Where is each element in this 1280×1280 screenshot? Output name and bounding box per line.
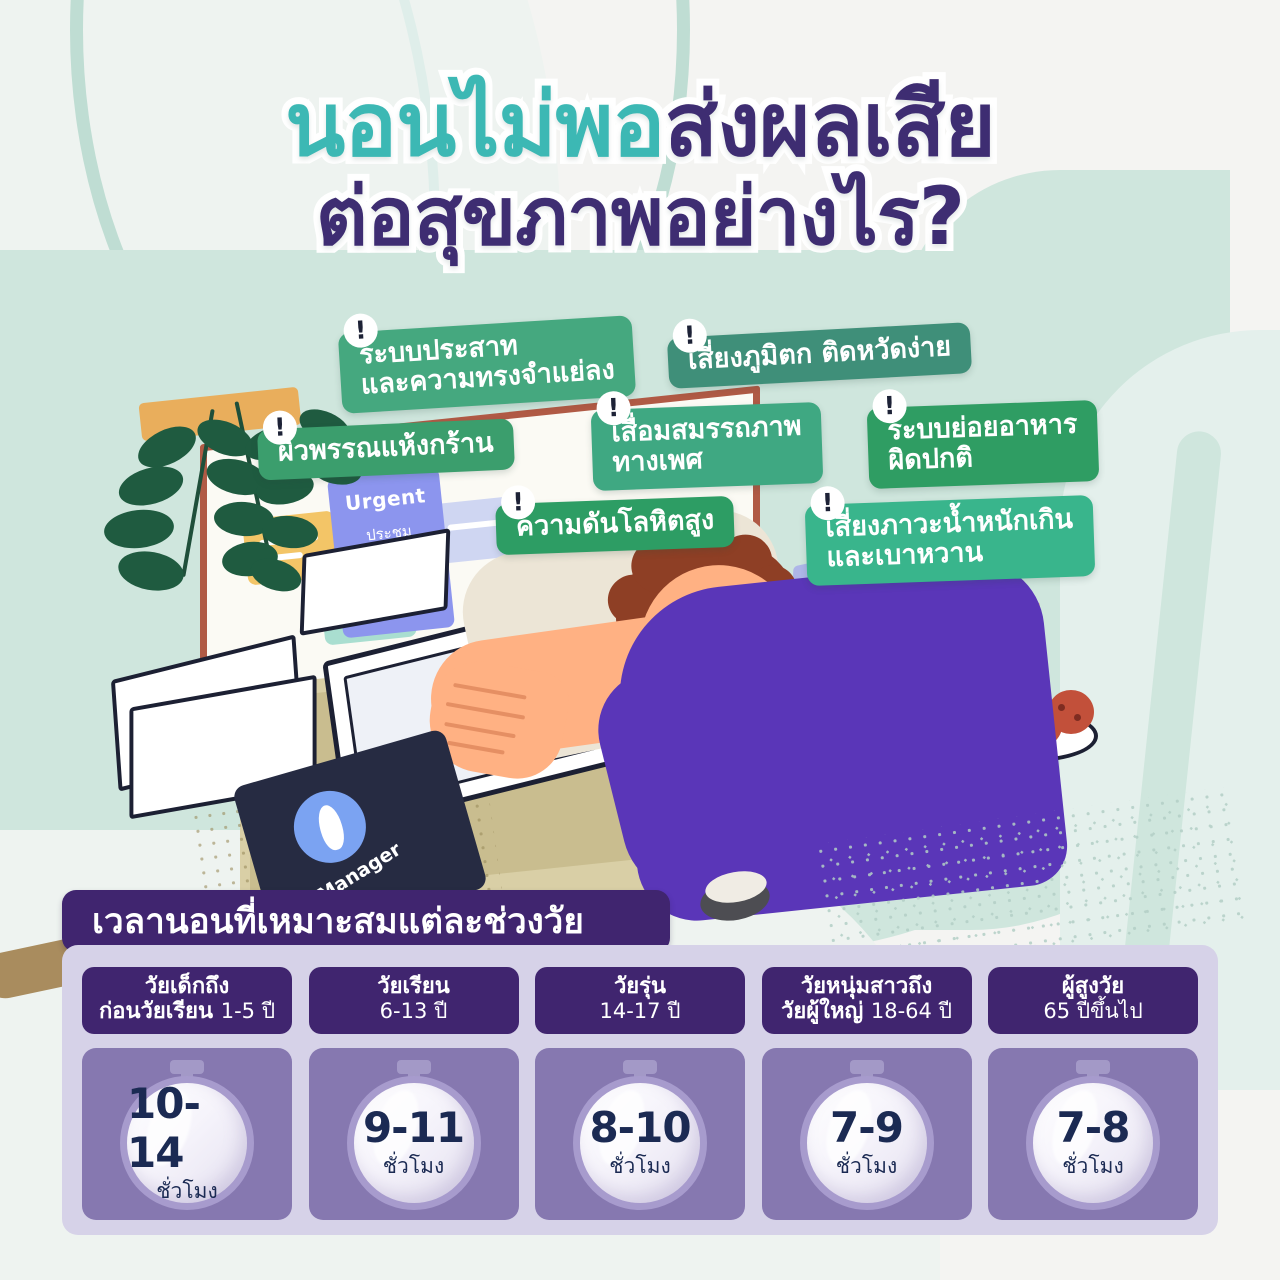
badge-bp-line-1: ความดันโลหิตสูง — [515, 506, 714, 543]
sleep-hours: 10-14 — [127, 1079, 247, 1177]
title-purple-part: ส่งผลเสีย — [664, 73, 995, 176]
age-range: 6-13 ปี — [380, 999, 448, 1023]
clock-icon-school: 9-11 ชั่วโมง — [347, 1076, 481, 1210]
clock-stem-icon — [397, 1060, 431, 1074]
clock-box-senior: 7-8 ชั่วโมง — [988, 1048, 1198, 1220]
age-label-line1: วัยหนุ่มสาวถึง — [772, 975, 962, 1000]
clock-stem-icon — [1076, 1060, 1110, 1074]
age-card-teen[interactable]: วัยรุ่น 14-17 ปี 8-10 ชั่วโมง — [535, 967, 745, 1220]
clock-icon-adult: 7-9 ชั่วโมง — [800, 1076, 934, 1210]
title-teal-part: นอนไม่พอ — [285, 73, 664, 176]
sleep-hours: 7-9 — [830, 1103, 903, 1152]
age-label-line1: ผู้สูงวัย — [998, 975, 1188, 1000]
badge-weight-line-2: และเบาหวาน — [826, 535, 1074, 574]
sleep-hours: 9-11 — [363, 1103, 464, 1152]
clock-stem-icon — [850, 1060, 884, 1074]
hours-unit: ชั่วโมง — [156, 1175, 217, 1208]
age-range: 1-5 ปี — [221, 999, 275, 1023]
sticky-urgent-label: Urgent — [328, 482, 442, 518]
age-card-school[interactable]: วัยเรียน 6-13 ปี 9-11 ชั่วโมง — [309, 967, 519, 1220]
infographic-poster: นอนไม่พอส่งผลเสีย ต่อสุขภาพอย่างไร? Urge… — [0, 0, 1280, 1280]
effect-badge-sexual[interactable]: ! เสื่อมสมรรถภาพ ทางเพศ — [591, 402, 824, 491]
age-label-teen: วัยรุ่น 14-17 ปี — [535, 967, 745, 1034]
clock-box-school: 9-11 ชั่วโมง — [309, 1048, 519, 1220]
clock-stem-icon — [170, 1060, 204, 1074]
effect-badge-digestive[interactable]: ! ระบบย่อยอาหาร ผิดปกติ — [867, 400, 1100, 489]
age-label-preschool: วัยเด็กถึง ก่อนวัยเรียน 1-5 ปี — [82, 967, 292, 1034]
hours-unit: ชั่วโมง — [836, 1150, 897, 1183]
age-label-line1: วัยรุ่น — [545, 975, 735, 1000]
panel-heading: เวลานอนที่เหมาะสมแต่ละช่วงวัย — [62, 890, 670, 952]
age-label-adult: วัยหนุ่มสาวถึง วัยผู้ใหญ่ 18-64 ปี — [762, 967, 972, 1034]
badge-skin-line-1: ผิวพรรณแห้งกร้าน — [277, 428, 494, 468]
clock-box-teen: 8-10 ชั่วโมง — [535, 1048, 745, 1220]
clock-icon-preschool: 10-14 ชั่วโมง — [120, 1076, 254, 1210]
age-card-adult[interactable]: วัยหนุ่มสาวถึง วัยผู้ใหญ่ 18-64 ปี 7-9 ช… — [762, 967, 972, 1220]
clock-stem-icon — [623, 1060, 657, 1074]
sleep-duration-panel: เวลานอนที่เหมาะสมแต่ละช่วงวัย วัยเด็กถึง… — [62, 890, 1218, 1242]
badge-sexual-line-2: ทางเพศ — [612, 442, 803, 479]
age-card-preschool[interactable]: วัยเด็กถึง ก่อนวัยเรียน 1-5 ปี 10-14 ชั่… — [82, 967, 292, 1220]
age-label-school: วัยเรียน 6-13 ปี — [309, 967, 519, 1034]
age-label-line1: วัยเด็กถึง — [92, 975, 282, 1000]
age-range: 18-64 ปี — [871, 999, 952, 1023]
age-label-line1: วัยเรียน — [319, 975, 509, 1000]
hours-unit: ชั่วโมง — [383, 1150, 444, 1183]
age-card-senior[interactable]: ผู้สูงวัย 65 ปีขึ้นไป 7-8 ชั่วโมง — [988, 967, 1198, 1220]
sleep-hours: 8-10 — [589, 1103, 690, 1152]
age-range: 65 ปีขึ้นไป — [1043, 999, 1142, 1023]
effect-badge-blood-pressure[interactable]: ! ความดันโลหิตสูง — [495, 496, 735, 556]
clock-icon-teen: 8-10 ชั่วโมง — [573, 1076, 707, 1210]
effect-badge-weight-diabetes[interactable]: ! เสี่ยงภาวะน้ำหนักเกิน และเบาหวาน — [805, 495, 1095, 586]
clock-icon-senior: 7-8 ชั่วโมง — [1026, 1076, 1160, 1210]
badge-immune-line-1: เสี่ยงภูมิตก ติดหวัดง่าย — [687, 332, 952, 376]
age-label-senior: ผู้สูงวัย 65 ปีขึ้นไป — [988, 967, 1198, 1034]
title-line-two: ต่อสุขภาพอย่างไร? — [316, 170, 964, 263]
sleep-hours: 7-8 — [1057, 1103, 1130, 1152]
clock-box-adult: 7-9 ชั่วโมง — [762, 1048, 972, 1220]
badge-digest-line-2: ผิดปกติ — [888, 440, 1079, 477]
age-label-line2: ก่อนวัยเรียน — [99, 999, 213, 1024]
age-range: 14-17 ปี — [599, 999, 680, 1023]
poster-title: นอนไม่พอส่งผลเสีย ต่อสุขภาพอย่างไร? — [0, 80, 1280, 257]
age-group-row: วัยเด็กถึง ก่อนวัยเรียน 1-5 ปี 10-14 ชั่… — [62, 945, 1218, 1235]
hours-unit: ชั่วโมง — [609, 1150, 670, 1183]
age-label-line2: วัยผู้ใหญ่ — [781, 999, 863, 1024]
hours-unit: ชั่วโมง — [1062, 1150, 1123, 1183]
clock-box-preschool: 10-14 ชั่วโมง — [82, 1048, 292, 1220]
